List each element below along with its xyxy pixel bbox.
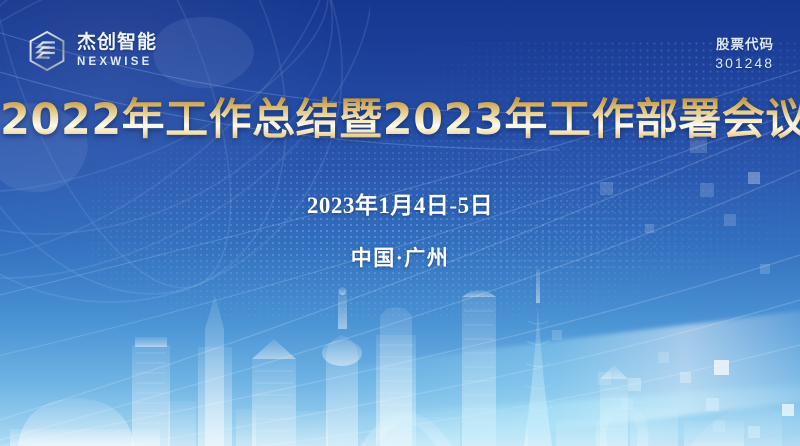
banner-content: 杰创智能 NEXWISE 股票代码 301248 2022年工作总结暨2023年… (0, 0, 800, 446)
page-title: 2022年工作总结暨2023年工作部署会议 (0, 96, 800, 144)
event-meta: 2023年1月4日-5日 中国·广州 (0, 186, 800, 272)
brand-logo: 杰创智能 NEXWISE (26, 30, 157, 72)
nexwise-hex-logo-icon (26, 30, 68, 72)
conference-banner: 杰创智能 NEXWISE 股票代码 301248 2022年工作总结暨2023年… (0, 0, 800, 446)
brand-text: 杰创智能 NEXWISE (77, 33, 157, 69)
stock-code-label: 股票代码 (715, 36, 774, 54)
event-date: 2023年1月4日-5日 (0, 186, 800, 220)
stock-code-value: 301248 (715, 54, 774, 73)
event-location: 中国·广州 (0, 242, 800, 272)
brand-name-en: NEXWISE (77, 55, 157, 69)
brand-name-cn: 杰创智能 (77, 33, 157, 53)
stock-code-block: 股票代码 301248 (715, 36, 774, 72)
